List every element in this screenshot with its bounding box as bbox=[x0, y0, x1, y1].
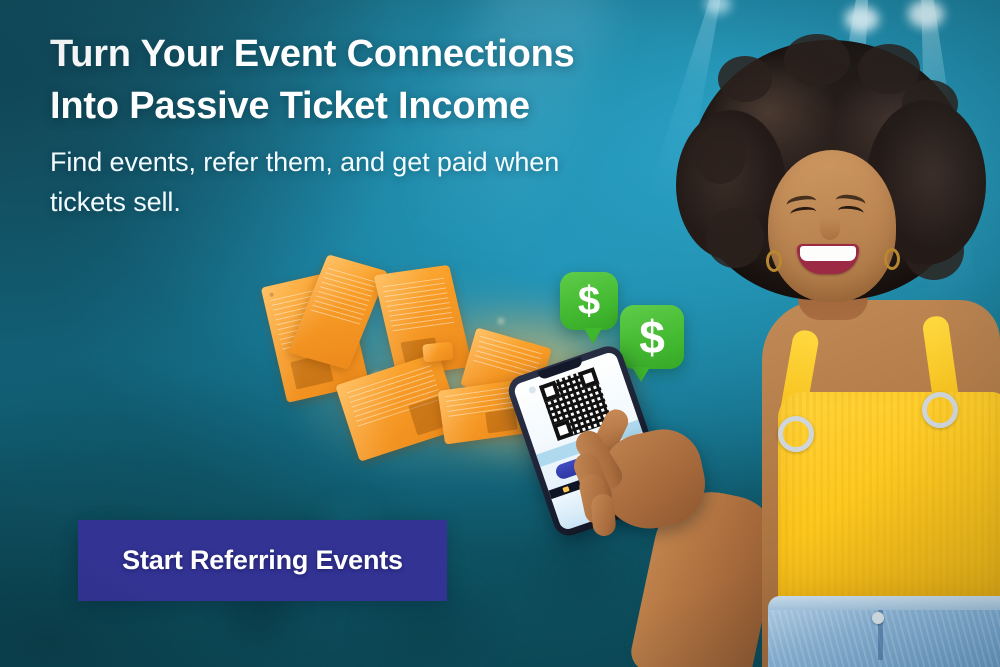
screen-tick bbox=[562, 486, 569, 493]
hoop-earring-left bbox=[766, 250, 782, 272]
bubble-tail bbox=[584, 328, 602, 344]
woman-portrait bbox=[650, 0, 1000, 667]
phone-camera-dot bbox=[528, 385, 537, 394]
headline-line-1: Turn Your Event Connections bbox=[50, 28, 670, 80]
ticket-stub bbox=[485, 408, 518, 434]
finger bbox=[591, 493, 617, 537]
hair-curl bbox=[902, 80, 958, 128]
ticket-lines bbox=[382, 278, 455, 333]
hair-curl bbox=[904, 222, 964, 280]
hoop-earring-right bbox=[884, 248, 900, 270]
headline-line-2: Into Passive Ticket Income bbox=[50, 80, 670, 132]
ticket-lines bbox=[445, 387, 517, 421]
hair-curl bbox=[694, 126, 746, 184]
hero-banner: Turn Your Event Connections Into Passive… bbox=[0, 0, 1000, 667]
start-referring-events-button[interactable]: Start Referring Events bbox=[78, 520, 447, 601]
teeth bbox=[800, 246, 856, 261]
ticket-lines bbox=[310, 267, 377, 326]
qr-finder bbox=[578, 367, 600, 389]
jeans-waistband bbox=[768, 596, 1000, 610]
hair-curl bbox=[920, 150, 974, 212]
money-bubble-icon: $ bbox=[560, 272, 618, 330]
ticket-dot bbox=[269, 292, 274, 297]
hero-copy: Turn Your Event Connections Into Passive… bbox=[50, 28, 670, 222]
dollar-sign: $ bbox=[578, 281, 600, 321]
hair-curl bbox=[706, 208, 764, 268]
qr-finder bbox=[552, 419, 574, 441]
subheadline: Find events, refer them, and get paid wh… bbox=[50, 142, 640, 222]
jeans-button bbox=[872, 612, 884, 624]
strap-ring-left bbox=[778, 416, 814, 452]
cta-button-label: Start Referring Events bbox=[122, 545, 403, 576]
strap-ring-right bbox=[922, 392, 958, 428]
hair-curl bbox=[718, 56, 772, 102]
nose bbox=[820, 218, 840, 240]
hair-curl bbox=[784, 34, 850, 86]
ticket-icon bbox=[422, 341, 454, 362]
qr-finder bbox=[539, 381, 561, 403]
